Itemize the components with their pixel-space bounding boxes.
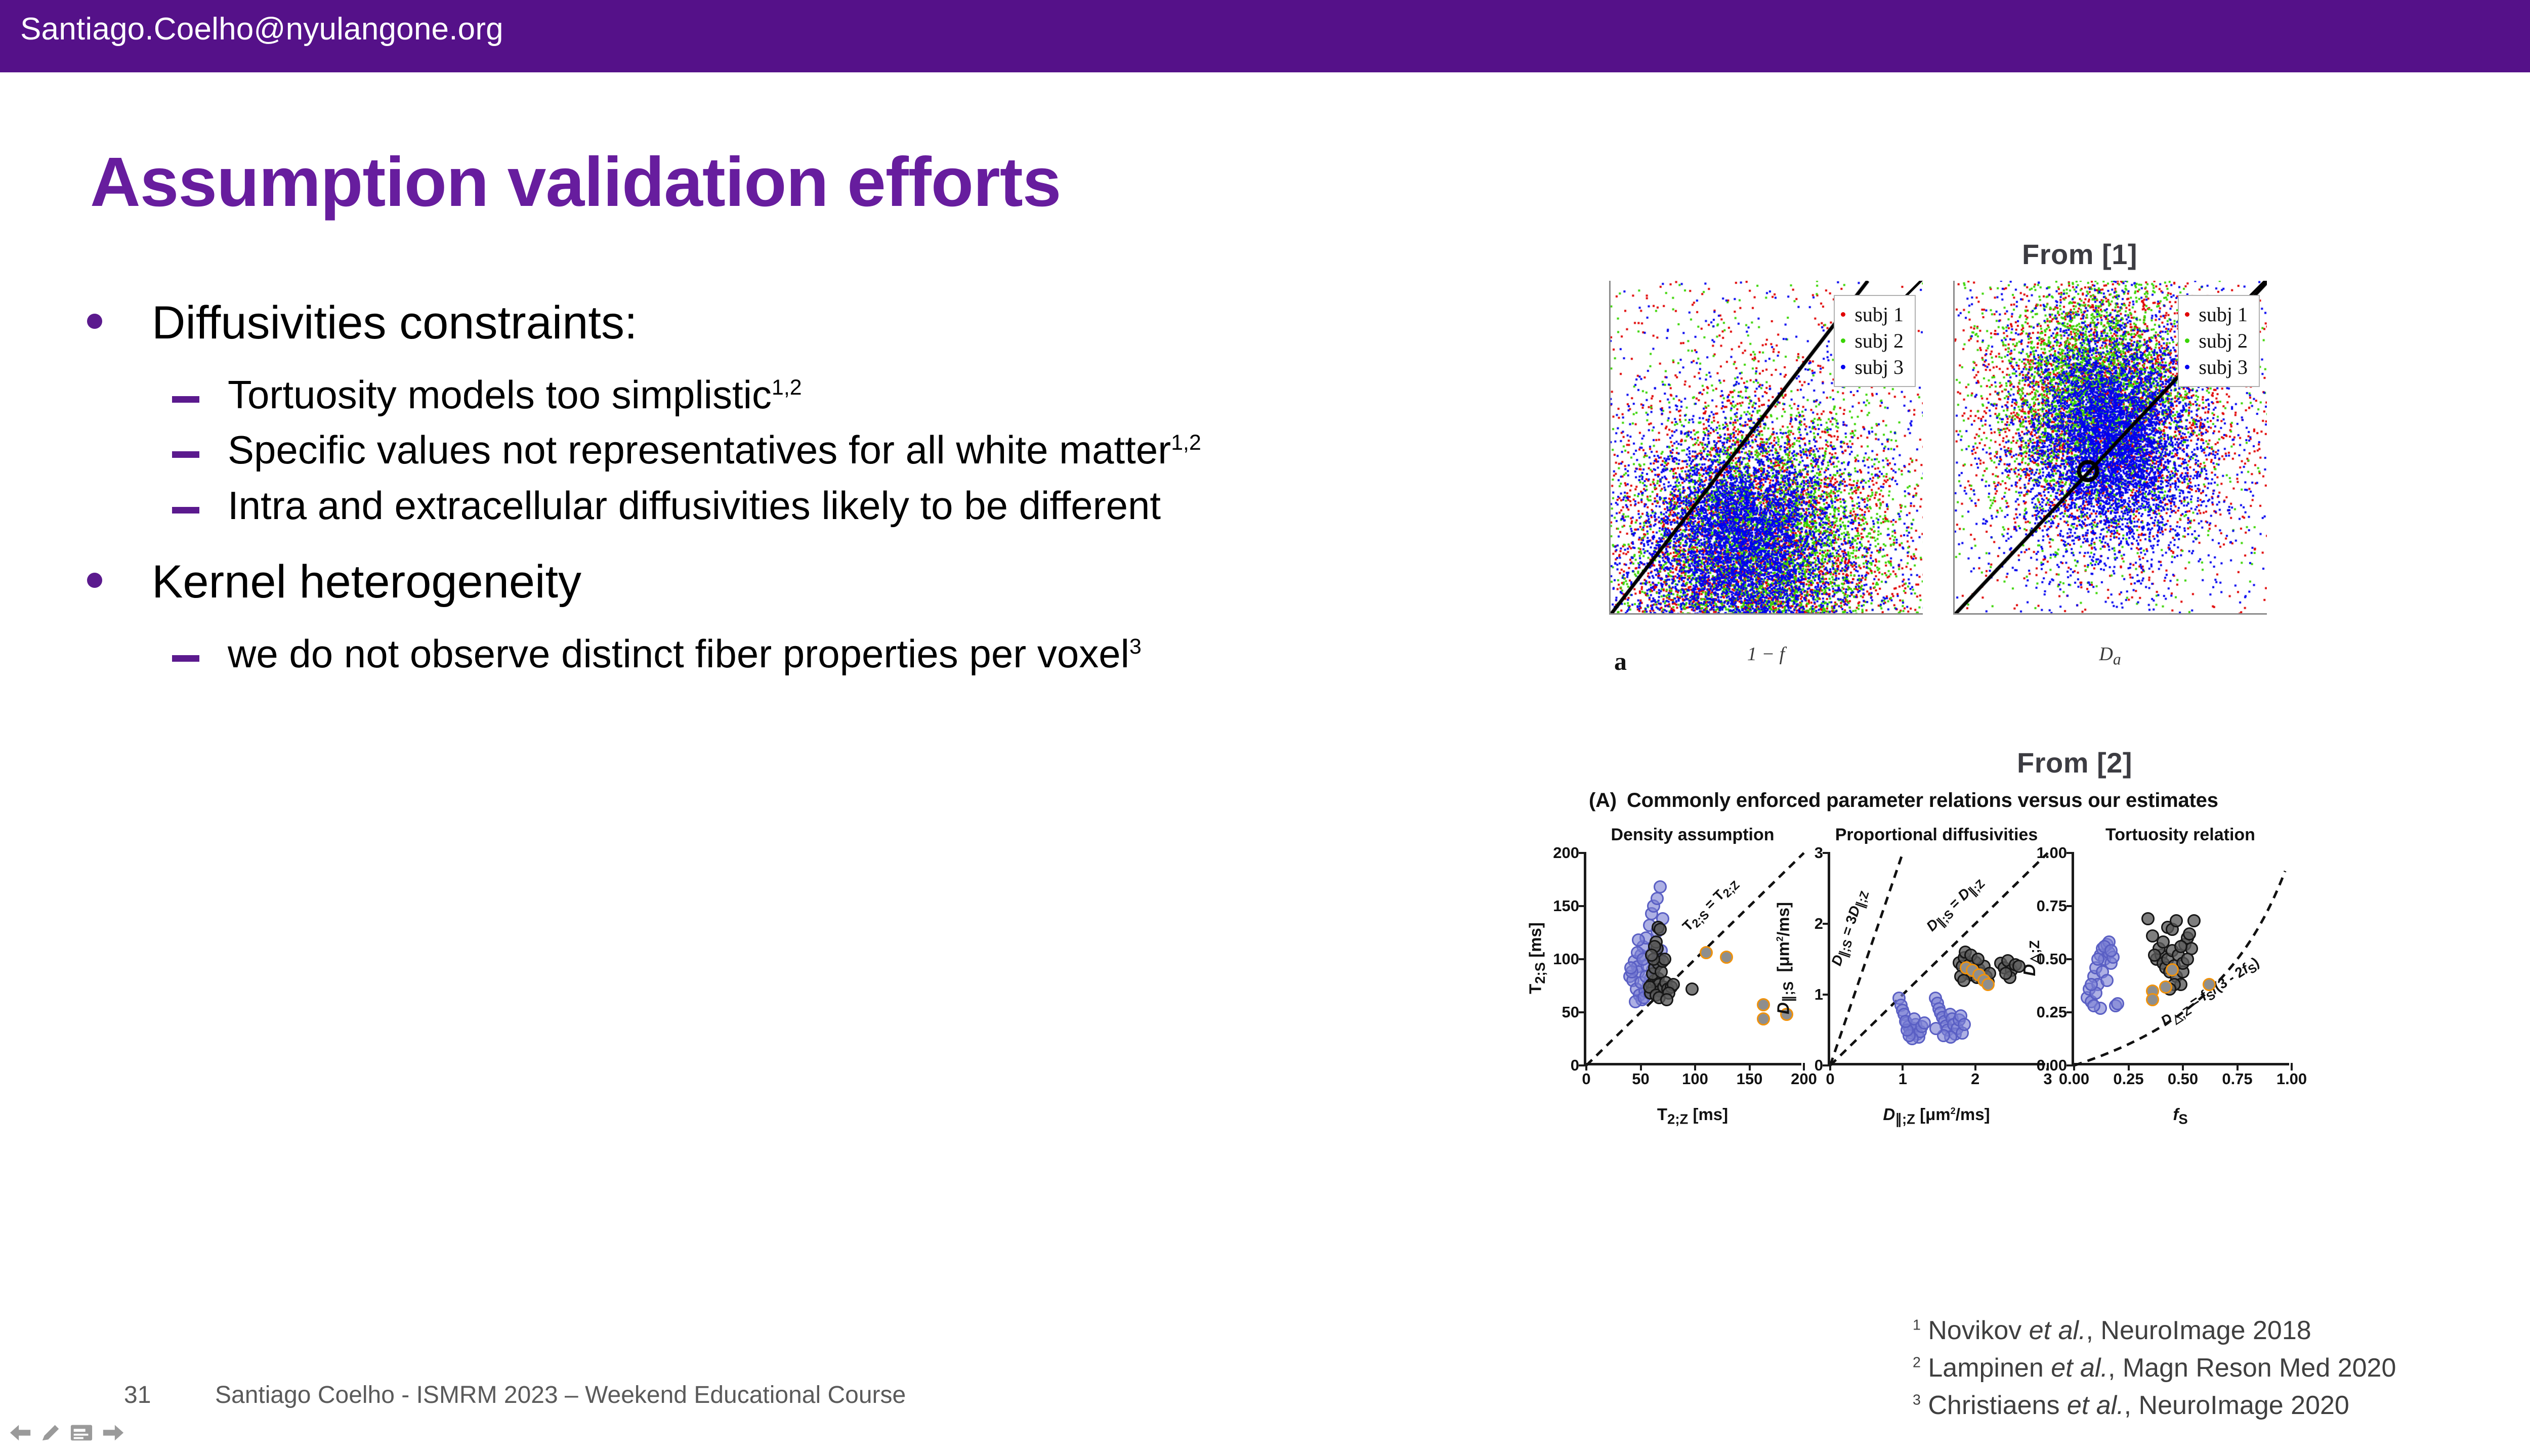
y-axis-tick-label: 1.00 — [2037, 844, 2067, 862]
y-axis-tick — [1579, 1011, 1586, 1013]
page-title: Assumption validation efforts — [90, 146, 1061, 219]
legend-label: subj 3 — [2199, 355, 2248, 379]
list-item: Kernel heterogeneity — [76, 552, 1589, 612]
dashed-reference-line — [1830, 853, 1903, 1065]
x-axis-tick — [2291, 1063, 2293, 1070]
legend-marker-icon — [2185, 365, 2189, 369]
figure-1-caption: From [1] — [1609, 238, 2530, 271]
x-axis-tick — [1829, 1063, 1831, 1070]
y-axis-title: T2;S [ms] — [1526, 922, 1549, 994]
y-axis-tick-label: 0.75 — [2037, 897, 2067, 915]
chart-tortuosity-relation: Tortuosity relationD△;Z = fS/(3 - 2fS)0.… — [2072, 825, 2289, 1128]
slide-menu-icon[interactable] — [70, 1423, 93, 1445]
bullet-dash-icon — [172, 396, 199, 403]
x-axis-tick — [2033, 613, 2034, 615]
y-axis-tick-label: 2 — [1815, 915, 1823, 933]
data-point — [1624, 961, 1637, 974]
x-axis-tick-label: 50 — [1632, 1070, 1649, 1088]
plot-area: T2;S = T2;Z050100150200050100150200T2;S … — [1584, 853, 1801, 1065]
y-axis-tick — [1609, 481, 1611, 482]
y-axis-tick — [1609, 281, 1611, 282]
figure-2-subtitle-text: Commonly enforced parameter relations ve… — [1627, 789, 2218, 811]
reference-item: 2 Lampinen et al., Magn Reson Med 2020 — [1913, 1353, 2396, 1383]
legend-item: subj 3 — [1841, 354, 1904, 380]
plot-area: 00.20.40.60.8100.51subj 1subj 2subj 3De⊥… — [1609, 281, 1923, 615]
list-item: Tortuosity models too simplistic1,2 — [76, 369, 1589, 420]
x-axis-tick — [1974, 1063, 1976, 1070]
x-axis-title: D∥;Z [μm2/ms] — [1828, 1105, 2045, 1128]
y-axis-tick-label: 150 — [1553, 897, 1579, 915]
data-point — [2159, 980, 2172, 994]
y-axis-tick — [2067, 905, 2074, 907]
data-point — [2203, 978, 2216, 991]
x-axis-tick — [1954, 613, 1956, 615]
figure-2-caption: From [2] — [1584, 746, 2530, 779]
x-axis-tick-label: 100 — [1682, 1070, 1708, 1088]
data-point — [1660, 993, 1673, 1006]
x-axis-tick — [2189, 613, 2191, 615]
legend-label: subj 1 — [1854, 303, 1904, 326]
x-axis-tick-label: 0.75 — [2222, 1070, 2252, 1088]
presenter-email: Santiago.Coelho@nyulangone.org — [20, 11, 503, 47]
plot-area: D△;Z = fS/(3 - 2fS)0.000.250.500.751.000… — [2072, 853, 2289, 1065]
x-axis-tick — [1640, 1063, 1642, 1070]
superscript-ref: 1,2 — [772, 375, 802, 400]
legend-label: subj 2 — [1854, 329, 1904, 353]
y-axis-tick-label: 0.25 — [2037, 1003, 2067, 1021]
y-axis-tick — [1823, 852, 1830, 854]
y-axis-tick-label: 100 — [1553, 950, 1579, 968]
x-axis-tick — [1610, 613, 1612, 615]
y-axis-tick — [1953, 281, 1955, 282]
legend: subj 1subj 2subj 3 — [2178, 295, 2260, 387]
x-axis-tick — [1767, 613, 1768, 615]
figure-1-panels: 00.20.40.60.8100.51subj 1subj 2subj 3De⊥… — [1609, 281, 2530, 669]
chart-de-par-vs-da: 0123401234subj 1subj 2subj 3De∥Da — [1953, 281, 2267, 669]
y-axis-tick-label: 50 — [1562, 1003, 1579, 1021]
data-point — [1700, 946, 1713, 959]
data-point — [1958, 1018, 1971, 1031]
bullet-dot-icon — [87, 314, 102, 329]
figure-from-1: From [1] 00.20.40.60.8100.51subj 1subj 2… — [1609, 238, 2530, 669]
data-point — [2187, 914, 2201, 927]
y-axis-tick — [1823, 923, 1830, 925]
bullet-dot-icon — [87, 573, 102, 588]
x-axis-title: fS — [2072, 1105, 2289, 1128]
slide-navigation-bar[interactable] — [9, 1423, 124, 1445]
y-axis-tick — [1823, 994, 1830, 996]
x-axis-tick — [1803, 1063, 1805, 1070]
y-axis-tick-label: 1 — [1815, 986, 1823, 1004]
pencil-icon[interactable] — [40, 1423, 62, 1445]
y-axis-tick — [1609, 547, 1611, 549]
chart-density-assumption: Density assumptionT2;S = T2;Z05010015020… — [1584, 825, 1801, 1128]
data-point — [2148, 949, 2161, 962]
list-item: Intra and extracellular diffusivities li… — [76, 480, 1589, 531]
y-axis-tick — [1953, 447, 1955, 449]
list-item: Specific values not representatives for … — [76, 424, 1589, 476]
legend-item: subj 1 — [2185, 301, 2248, 327]
reference-list: 1 Novikov et al., NeuroImage 2018 2 Lamp… — [1913, 1315, 2396, 1428]
header-bar: Santiago.Coelho@nyulangone.org — [0, 0, 2530, 72]
bullet-dash-icon — [172, 507, 199, 513]
legend-marker-icon — [2185, 312, 2189, 317]
chart-proportional-diffusivities: Proportional diffusivitiesD∥;S = 3D∥;ZD∥… — [1828, 825, 2045, 1128]
panel-label-a: a — [1614, 647, 1627, 676]
chart-title: Tortuosity relation — [2072, 825, 2289, 845]
y-axis-tick-label: 200 — [1553, 844, 1579, 862]
bullet-text: Tortuosity models too simplistic1,2 — [228, 372, 802, 417]
y-axis-tick — [1579, 958, 1586, 960]
y-axis-tick — [1609, 614, 1611, 615]
data-point — [2166, 963, 2179, 976]
superscript-ref: 3 — [1129, 634, 1142, 659]
legend-marker-icon — [2185, 338, 2189, 343]
data-point — [2183, 927, 2196, 940]
x-axis-tick-label: 2 — [1971, 1070, 1979, 1088]
data-point — [2111, 997, 2124, 1010]
chart-title: Proportional diffusivities — [1828, 825, 2045, 845]
legend-marker-icon — [1841, 365, 1845, 369]
data-point — [1720, 951, 1733, 964]
x-axis-tick — [2182, 1063, 2184, 1070]
x-axis-tick-label: 150 — [1737, 1070, 1763, 1088]
data-point — [1685, 982, 1699, 996]
x-axis-tick-label: 0.00 — [2059, 1070, 2089, 1088]
data-point — [1957, 974, 1970, 987]
y-axis-title: D∥;S [μm2/ms] — [1774, 902, 1797, 1014]
data-point — [1651, 892, 1664, 905]
reference-item: 3 Christiaens et al., NeuroImage 2020 — [1913, 1390, 2396, 1421]
x-axis-title: T2;Z [ms] — [1584, 1105, 1801, 1128]
forward-arrow-icon[interactable] — [101, 1423, 124, 1445]
y-axis-tick — [2067, 1011, 2074, 1013]
y-axis-tick — [1579, 852, 1586, 854]
figure-2-subtitle: (A)Commonly enforced parameter relations… — [1589, 789, 2530, 812]
data-point — [2181, 953, 2194, 966]
figure-2-panels: Density assumptionT2;S = T2;Z05010015020… — [1584, 825, 2530, 1128]
data-point — [2174, 940, 2187, 953]
data-point — [1757, 1012, 1770, 1025]
y-axis-title: D△;Z — [2020, 940, 2043, 976]
y-axis-tick — [1953, 364, 1955, 365]
y-axis-tick — [1609, 347, 1611, 349]
x-axis-title: 1 − f — [1609, 643, 1923, 665]
legend-marker-icon — [1841, 312, 1845, 317]
y-axis-tick — [1953, 614, 1955, 615]
footer-text: Santiago Coelho - ISMRM 2023 – Weekend E… — [215, 1381, 906, 1409]
x-axis-tick — [1694, 1063, 1696, 1070]
reference-item: 1 Novikov et al., NeuroImage 2018 — [1913, 1315, 2396, 1346]
back-arrow-icon[interactable] — [9, 1423, 32, 1445]
chart-de-perp-ratio-vs-1-minus-f: 00.20.40.60.8100.51subj 1subj 2subj 3De⊥… — [1609, 281, 1923, 669]
legend-marker-icon — [1841, 338, 1845, 343]
legend: subj 1subj 2subj 3 — [1834, 295, 1916, 387]
y-axis-tick — [1609, 414, 1611, 415]
x-axis-tick — [1749, 1063, 1751, 1070]
y-axis-tick — [2067, 958, 2074, 960]
superscript-ref: 1,2 — [1171, 431, 1201, 455]
y-axis-tick — [1579, 905, 1586, 907]
y-axis-tick — [2067, 852, 2074, 854]
x-axis-tick — [2128, 1063, 2130, 1070]
data-point — [2087, 999, 2100, 1012]
data-point — [2146, 993, 2159, 1006]
data-point — [2100, 974, 2114, 987]
legend-item: subj 1 — [1841, 301, 1904, 327]
x-axis-tick — [2111, 613, 2113, 615]
data-point — [1999, 967, 2012, 980]
x-axis-tick-label: 0 — [1826, 1070, 1834, 1088]
reference-lines — [1586, 853, 1804, 1065]
slide-number: 31 — [124, 1381, 151, 1409]
y-axis-tick-label: 3 — [1815, 844, 1823, 862]
panel-letter-A: (A) — [1589, 789, 1617, 811]
x-axis-tick-label: 0.25 — [2113, 1070, 2143, 1088]
legend-label: subj 1 — [2199, 303, 2248, 326]
legend-label: subj 2 — [2199, 329, 2248, 353]
list-item: we do not observe distinct fiber propert… — [76, 628, 1589, 679]
slide-canvas: Santiago.Coelho@nyulangone.org Assumptio… — [0, 0, 2530, 1456]
bullet-dash-icon — [172, 451, 199, 458]
plot-area: 0123401234subj 1subj 2subj 3De∥ — [1953, 281, 2267, 615]
legend-label: subj 3 — [1854, 355, 1904, 379]
legend-item: subj 2 — [1841, 327, 1904, 354]
x-axis-tick — [2073, 1063, 2075, 1070]
figure-from-2: From [2] (A)Commonly enforced parameter … — [1584, 746, 2530, 1128]
y-axis-tick — [1953, 531, 1955, 532]
dashed-reference-line — [1586, 853, 1804, 1065]
legend-item: subj 3 — [2185, 354, 2248, 380]
bullet-text: Specific values not representatives for … — [228, 427, 1201, 472]
x-axis-tick-label: 0 — [1582, 1070, 1590, 1088]
legend-item: subj 2 — [2185, 327, 2248, 354]
x-axis-tick-label: 0.50 — [2168, 1070, 2198, 1088]
bullet-text: Kernel heterogeneity — [152, 556, 581, 608]
y-axis-tick-label: 0 — [1815, 1056, 1823, 1075]
x-axis-tick-label: 200 — [1791, 1070, 1817, 1088]
x-axis-tick-label: 1 — [1899, 1070, 1907, 1088]
x-axis-tick-label: 1.00 — [2276, 1070, 2307, 1088]
x-axis-title: Da — [1953, 643, 2267, 669]
bullet-text: Diffusivities constraints: — [152, 297, 638, 349]
list-item: Diffusivities constraints: — [76, 293, 1589, 353]
x-axis-tick — [1585, 1063, 1587, 1070]
plot-area: D∥;S = 3D∥;ZD∥;S = D∥;Z01230123D∥;S [μm2… — [1828, 853, 2045, 1065]
x-axis-tick — [2237, 1063, 2239, 1070]
x-axis-tick — [1902, 1063, 1904, 1070]
bullet-dash-icon — [172, 655, 199, 662]
chart-title: Density assumption — [1584, 825, 1801, 845]
bullet-list: Diffusivities constraints: Tortuosity mo… — [76, 293, 1589, 683]
data-point — [1645, 949, 1658, 962]
y-axis-tick-label: 0 — [1571, 1056, 1579, 1075]
bullet-text: we do not observe distinct fiber propert… — [228, 631, 1142, 676]
bullet-text: Intra and extracellular diffusivities li… — [228, 483, 1161, 528]
